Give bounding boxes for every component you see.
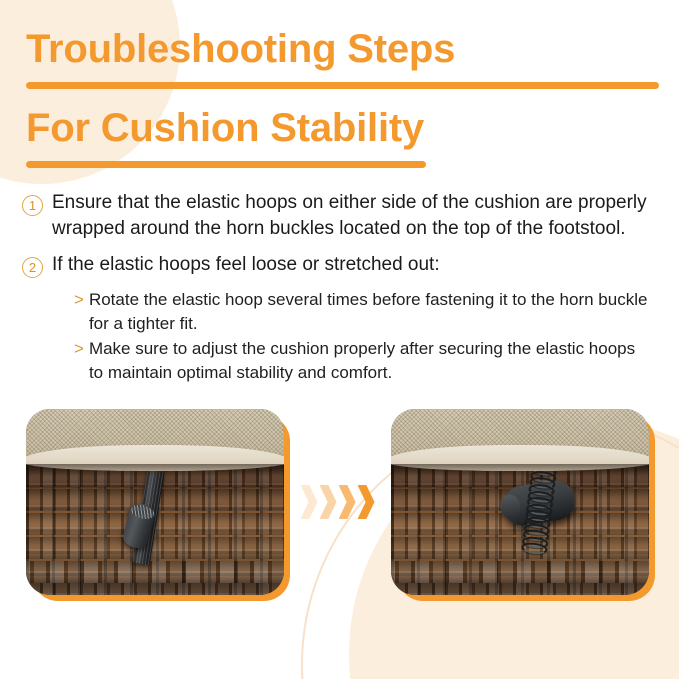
step-text-2: If the elastic hoops feel loose or stret… [52, 252, 653, 278]
page-title-line2: For Cushion Stability [26, 103, 657, 153]
bullet-chevron-icon-1: > [74, 288, 84, 312]
figure-before [26, 409, 284, 595]
title-block: Troubleshooting Steps For Cushion Stabil… [0, 0, 679, 168]
content-area: Troubleshooting Steps For Cushion Stabil… [0, 0, 679, 609]
title-spacer [26, 89, 657, 103]
wicker-weave-background-2 [391, 461, 649, 595]
loose-elastic-strap-photo [26, 409, 284, 595]
chevron-icon-2 [320, 485, 337, 519]
wicker-rows-2 [391, 461, 649, 595]
cushion-underside-shadow-1 [26, 464, 284, 476]
step-item-1: 1 Ensure that the elastic hoops on eithe… [22, 190, 653, 242]
wicker-row [26, 583, 284, 595]
wicker-row [391, 537, 649, 559]
step-2-bullet-list: > Rotate the elastic hoop several times … [74, 288, 653, 385]
bullet-chevron-icon-2: > [74, 337, 84, 361]
step-paragraph-1: Ensure that the elastic hoops on either … [52, 190, 653, 242]
step-number-badge-2: 2 [22, 257, 43, 278]
coiled-elastic-strap-photo [391, 409, 649, 595]
wicker-row [26, 561, 284, 583]
step-item-2: 2 If the elastic hoops feel loose or str… [22, 252, 653, 278]
chevron-icon-4 [358, 485, 375, 519]
page-title-line1: Troubleshooting Steps [26, 24, 657, 74]
bullet-text-2: Make sure to adjust the cushion properly… [89, 337, 653, 385]
step-number-badge-1: 1 [22, 195, 43, 216]
wicker-row [26, 537, 284, 559]
wicker-row [391, 561, 649, 583]
bullet-item-1: > Rotate the elastic hoop several times … [74, 288, 653, 336]
chevron-icon-1 [301, 485, 318, 519]
title-underline-2 [26, 161, 426, 168]
title-underline-1 [26, 82, 659, 89]
step-text-1: Ensure that the elastic hoops on either … [52, 190, 653, 242]
infographic-page: Troubleshooting Steps For Cushion Stabil… [0, 0, 679, 679]
figure-row [0, 409, 679, 609]
cushion-underside-shadow-2 [391, 464, 649, 476]
figure-after [391, 409, 649, 595]
wicker-row [391, 583, 649, 595]
step-paragraph-2: If the elastic hoops feel loose or stret… [52, 252, 653, 278]
bullet-text-1: Rotate the elastic hoop several times be… [89, 288, 653, 336]
steps-list: 1 Ensure that the elastic hoops on eithe… [0, 190, 679, 385]
bullet-item-2: > Make sure to adjust the cushion proper… [74, 337, 653, 385]
chevron-arrow-right-icon [284, 409, 391, 595]
chevron-icon-3 [339, 485, 356, 519]
